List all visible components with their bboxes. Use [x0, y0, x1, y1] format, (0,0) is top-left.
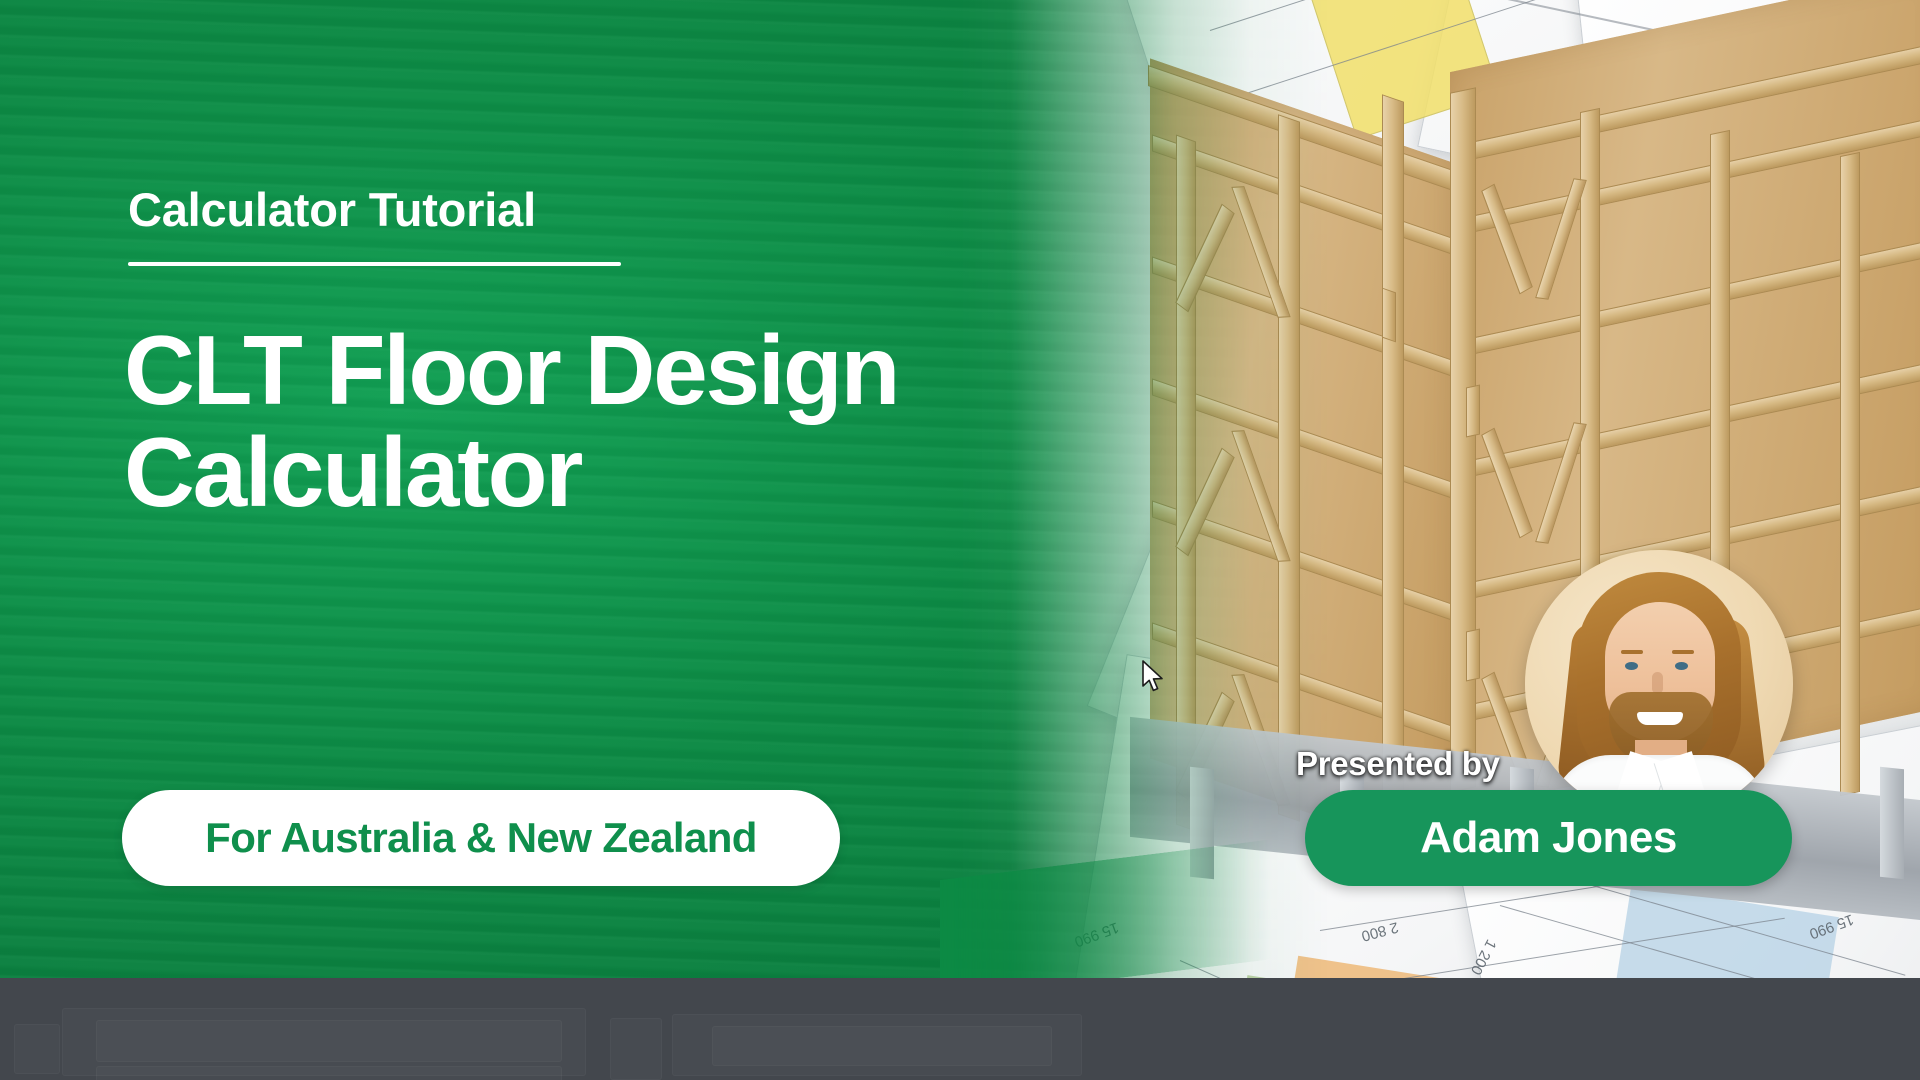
avatar-eye — [1625, 662, 1638, 670]
presenter-name: Adam Jones — [1420, 813, 1677, 863]
region-pill[interactable]: For Australia & New Zealand — [122, 790, 840, 886]
base-column — [1880, 767, 1904, 880]
page-title: CLT Floor Design Calculator — [124, 320, 1044, 524]
eyebrow-label: Calculator Tutorial — [128, 186, 536, 233]
player-control-placeholder[interactable] — [96, 1066, 562, 1080]
eyebrow-underline — [128, 262, 621, 266]
screen: 790 1 000 200 170 15 2 800 1 200 15 990 … — [0, 0, 1920, 1080]
corner-post — [1450, 87, 1476, 793]
player-control-placeholder[interactable] — [14, 1024, 60, 1074]
avatar — [1525, 550, 1793, 818]
avatar-eye — [1675, 662, 1688, 670]
column-post — [1840, 152, 1860, 796]
presenter-pill[interactable]: Adam Jones — [1305, 790, 1792, 886]
headline-line-1: CLT Floor Design — [124, 315, 898, 425]
player-control-placeholder[interactable] — [96, 1020, 562, 1062]
region-pill-label: For Australia & New Zealand — [205, 814, 757, 862]
presented-by-label: Presented by — [1296, 745, 1500, 783]
sill-stub — [1466, 629, 1480, 682]
avatar-brow — [1672, 650, 1694, 654]
player-control-placeholder[interactable] — [712, 1026, 1052, 1066]
avatar-smile — [1637, 712, 1683, 725]
player-control-placeholder[interactable] — [610, 1018, 662, 1080]
mouse-cursor-icon — [1141, 660, 1167, 699]
avatar-nose — [1652, 672, 1663, 694]
headline-line-2: Calculator — [124, 422, 1044, 524]
video-slide[interactable]: 790 1 000 200 170 15 2 800 1 200 15 990 … — [0, 0, 1920, 978]
sill-stub — [1466, 385, 1480, 438]
video-player-bar[interactable] — [0, 978, 1920, 1080]
avatar-brow — [1621, 650, 1643, 654]
